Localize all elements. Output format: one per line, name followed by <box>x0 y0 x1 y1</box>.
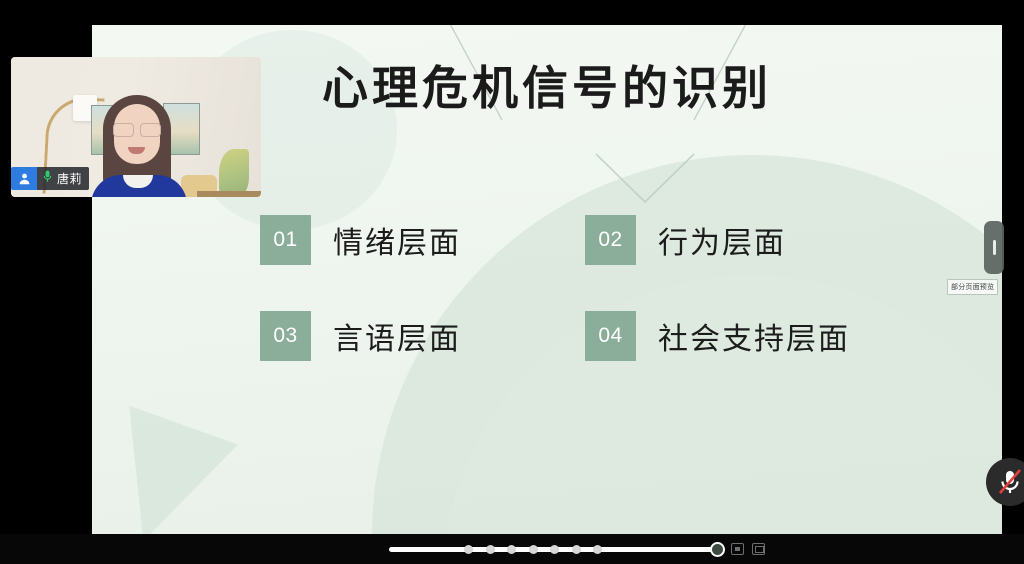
plant-decor <box>219 149 249 197</box>
microphone-muted-icon <box>997 468 1023 496</box>
chapter-marker[interactable] <box>529 545 538 554</box>
chapter-marker[interactable] <box>572 545 581 554</box>
slide-item-01[interactable]: 01 情绪层面 <box>260 215 585 265</box>
decorative-triangle <box>129 395 247 534</box>
screen-share-view: 心理危机信号的识别 01 情绪层面 02 行为层面 03 言语层面 04 <box>0 0 1024 564</box>
fullscreen-icon[interactable] <box>752 543 765 555</box>
chapter-marker[interactable] <box>507 545 516 554</box>
slide-item-label: 社会支持层面 <box>658 314 850 358</box>
chapter-marker[interactable] <box>593 545 602 554</box>
slide-item-number: 02 <box>585 215 636 265</box>
slide-item-number: 01 <box>260 215 311 265</box>
drawer-handle[interactable] <box>984 221 1004 274</box>
media-control-bar[interactable] <box>0 534 1024 564</box>
decorative-chevron-v <box>592 150 702 210</box>
slide-item-03[interactable]: 03 言语层面 <box>260 311 585 361</box>
seek-thumb[interactable] <box>710 542 725 557</box>
chapter-marker[interactable] <box>464 545 473 554</box>
pip-icon[interactable] <box>731 543 744 555</box>
microphone-icon <box>42 170 53 188</box>
slide-item-row: 01 情绪层面 02 行为层面 <box>260 215 950 265</box>
slide-item-label: 言语层面 <box>333 314 461 358</box>
chapter-marker[interactable] <box>550 545 559 554</box>
slide-item-label: 行为层面 <box>658 218 786 262</box>
glasses-icon <box>113 123 161 135</box>
slide-item-04[interactable]: 04 社会支持层面 <box>585 311 910 361</box>
slide-item-number: 04 <box>585 311 636 361</box>
seek-bar[interactable] <box>389 545 719 553</box>
slide-item-list: 01 情绪层面 02 行为层面 03 言语层面 04 社会支持层面 <box>260 215 950 407</box>
drawer-grip-icon <box>993 240 996 255</box>
name-badge-body: 唐莉 <box>37 167 89 190</box>
participant-name: 唐莉 <box>57 170 82 187</box>
chapter-marker[interactable] <box>486 545 495 554</box>
page-preview-tooltip: 部分页面预览 <box>947 279 998 295</box>
slide-item-number: 03 <box>260 311 311 361</box>
table-decor <box>197 191 261 197</box>
participant-name-badge: 唐莉 <box>11 167 89 190</box>
person-icon <box>11 167 37 190</box>
slide-item-row: 03 言语层面 04 社会支持层面 <box>260 311 950 361</box>
slide-item-02[interactable]: 02 行为层面 <box>585 215 910 265</box>
slide-item-label: 情绪层面 <box>333 218 461 262</box>
